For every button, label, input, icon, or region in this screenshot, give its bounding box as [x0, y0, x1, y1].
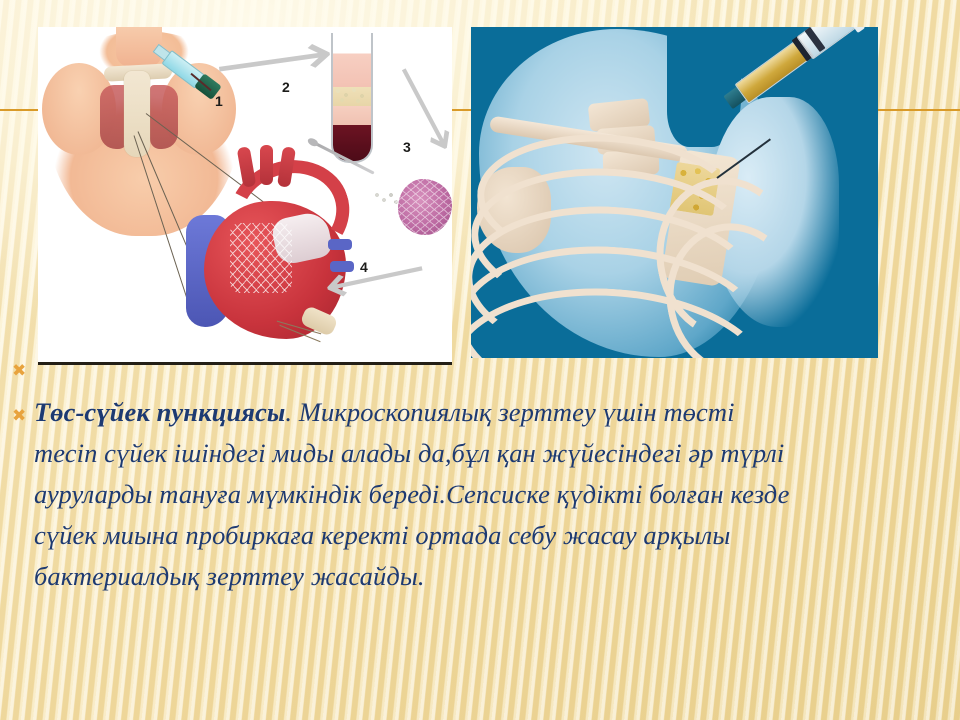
- great-vessel: [260, 145, 273, 185]
- bacterial-colony-illustration: [398, 179, 452, 235]
- slide-canvas: 1: [0, 0, 960, 720]
- bullet-marker-icon: ✖: [12, 408, 26, 425]
- bullet-marker-icon: ✖: [12, 363, 26, 380]
- step-arrow-icon: ⟶: [381, 54, 452, 163]
- test-tube-illustration: [331, 33, 373, 163]
- lead-term: Төс-сүйек пункциясы: [34, 397, 285, 427]
- lateral-vein: [328, 239, 352, 250]
- cardiac-mesh-overlay: [230, 223, 292, 293]
- marrow-granule-layer: [334, 87, 368, 105]
- step-label-4: 4: [360, 259, 368, 275]
- step-arrow-icon: ⟶: [211, 27, 338, 97]
- body-paragraph: Төс-сүйек пункциясы. Микроскопиялық зерт…: [34, 392, 794, 597]
- figure-sternal-puncture-workflow: 1: [38, 27, 452, 365]
- step-label-2: 2: [282, 79, 290, 95]
- step-label-3: 3: [403, 139, 411, 155]
- figure-ribcage-sternal-aspiration: [471, 27, 878, 358]
- right-lung-shape: [150, 85, 178, 149]
- great-vessel: [237, 146, 257, 188]
